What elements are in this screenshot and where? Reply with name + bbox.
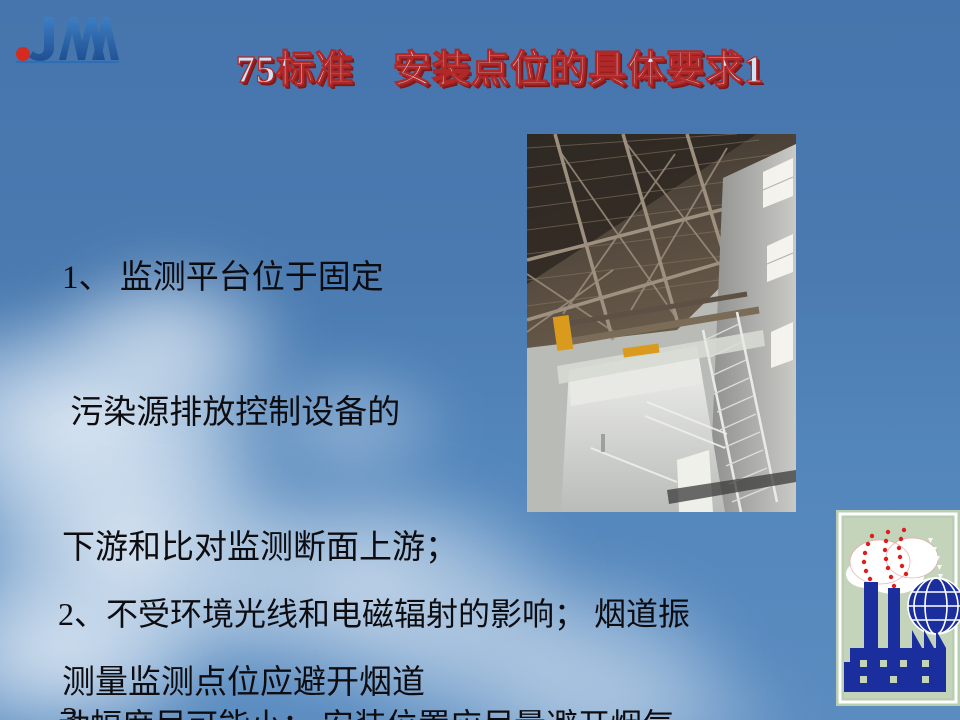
page-title: 75标准 安装点位的具体要求1 [150,38,850,93]
body-line: 1、 监测平台位于固定 [62,256,862,301]
jm-company-logo [14,14,122,66]
body-line: 动幅度尽可能小； 安装位置应尽量避开烟气 [58,707,938,720]
globe-icon [908,578,960,634]
body-line: 污染源排放控制设备的 [62,391,862,436]
environmental-monitoring-emblem [836,510,960,706]
body-paragraph-3: 3 [62,700,78,720]
body-paragraph-2: 2、不受环境光线和电磁辐射的影响； 烟道振 动幅度尽可能小； 安装位置应尽量避开… [58,522,938,720]
body-line: 2、不受环境光线和电磁辐射的影响； 烟道振 [58,596,938,633]
slide-canvas: 75标准 安装点位的具体要求1 [0,0,960,720]
logo-red-dot [16,47,30,61]
